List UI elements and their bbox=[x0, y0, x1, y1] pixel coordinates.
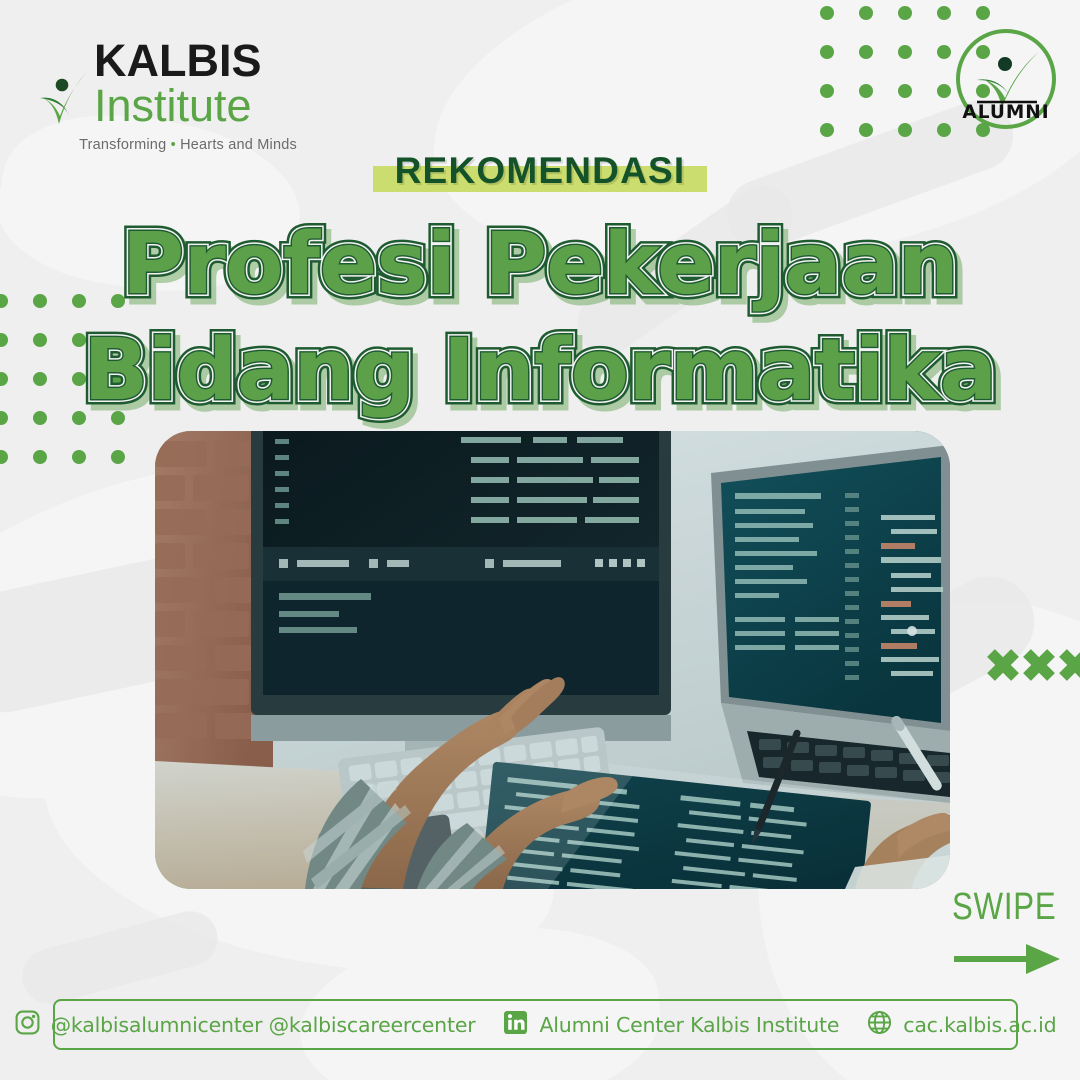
x-marks-decoration bbox=[985, 641, 1080, 689]
decorative-dot bbox=[898, 45, 912, 59]
decorative-dot bbox=[820, 45, 834, 59]
decorative-dot bbox=[898, 6, 912, 20]
decorative-dot bbox=[859, 84, 873, 98]
swipe-indicator: SWIPE bbox=[952, 888, 1072, 981]
alumni-badge: ALUMNI bbox=[955, 28, 1057, 130]
decorative-dot bbox=[937, 84, 951, 98]
instagram-handles: @kalbisalumnicenter @kalbiscareercenter bbox=[51, 1013, 476, 1037]
headline-line-1: Profesi Pekerjaan Profesi Pekerjaan Prof… bbox=[0, 212, 1080, 318]
page-title: Profesi Pekerjaan Profesi Pekerjaan Prof… bbox=[0, 212, 1080, 424]
linkedin-name: Alumni Center Kalbis Institute bbox=[539, 1013, 839, 1037]
footer-item-instagram[interactable]: @kalbisalumnicenter @kalbiscareercenter bbox=[15, 1010, 476, 1040]
decorative-dot bbox=[820, 6, 834, 20]
globe-icon bbox=[867, 1010, 892, 1040]
decorative-dot bbox=[937, 45, 951, 59]
swipe-label: SWIPE bbox=[952, 888, 1050, 926]
decorative-dot bbox=[859, 6, 873, 20]
decorative-dot bbox=[937, 6, 951, 20]
decorative-dot bbox=[859, 45, 873, 59]
decorative-dot bbox=[820, 84, 834, 98]
linkedin-icon bbox=[503, 1010, 528, 1040]
decorative-dot bbox=[111, 450, 125, 464]
footer-item-linkedin[interactable]: Alumni Center Kalbis Institute bbox=[503, 1010, 839, 1040]
logo-word-kalbis: KALBIS bbox=[94, 35, 262, 86]
alumni-badge-label: ALUMNI bbox=[962, 102, 1049, 123]
decorative-dot bbox=[976, 6, 990, 20]
hero-photo bbox=[155, 431, 950, 889]
logo-wordmark: KALBIS Institute bbox=[94, 38, 368, 128]
footer-contact-bar: @kalbisalumnicenter @kalbiscareercenter … bbox=[53, 999, 1018, 1050]
headline-line-2: Bidang Informatika Bidang Informatika Bi… bbox=[0, 318, 1080, 424]
decorative-dot bbox=[937, 123, 951, 137]
decorative-dot bbox=[898, 123, 912, 137]
headline-line-1-text: Profesi Pekerjaan bbox=[0, 212, 1080, 318]
decorative-dot bbox=[820, 123, 834, 137]
headline-line-2-text: Bidang Informatika bbox=[0, 318, 1080, 424]
svg-text:ALUMNI: ALUMNI bbox=[962, 102, 1049, 123]
decorative-dot bbox=[33, 450, 47, 464]
eyebrow-text: REKOMENDASI bbox=[373, 150, 708, 192]
footer-item-website[interactable]: cac.kalbis.ac.id bbox=[867, 1010, 1056, 1040]
kalbis-logo: KALBIS Institute Transforming • Hearts a… bbox=[38, 38, 368, 153]
poster-canvas: KALBIS Institute Transforming • Hearts a… bbox=[0, 0, 1080, 1080]
decorative-dot bbox=[72, 450, 86, 464]
decorative-dot bbox=[0, 450, 8, 464]
instagram-icon bbox=[15, 1010, 40, 1040]
logo-word-institute: Institute bbox=[94, 80, 252, 131]
decorative-dot bbox=[898, 84, 912, 98]
decorative-dot bbox=[859, 123, 873, 137]
arrow-right-icon bbox=[952, 942, 1072, 981]
eyebrow-banner: REKOMENDASI bbox=[0, 148, 1080, 194]
website-url: cac.kalbis.ac.id bbox=[903, 1013, 1056, 1037]
kalbis-checkmark-figure-icon bbox=[38, 70, 90, 128]
